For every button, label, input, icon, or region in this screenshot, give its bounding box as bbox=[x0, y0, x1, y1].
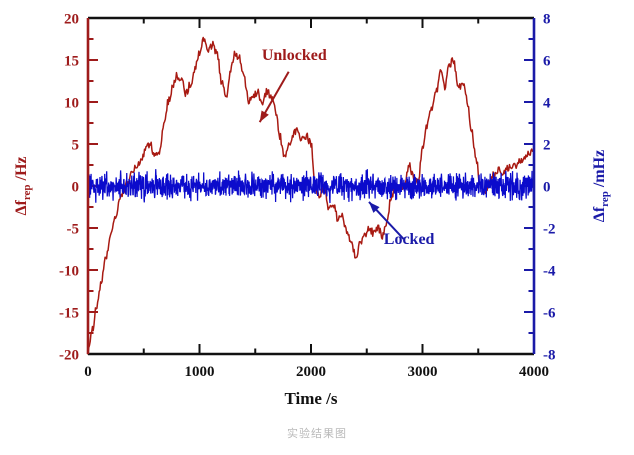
left-tick-label: -5 bbox=[67, 222, 80, 238]
bottom-tick-label: 1000 bbox=[185, 364, 215, 380]
x-axis-label: Time /s bbox=[284, 389, 337, 408]
y-axis-label-right-delta-f: Δf bbox=[591, 206, 608, 222]
y-axis-label-left-unit: /Hz bbox=[13, 156, 30, 184]
chart-canvas: -20-15-10-505101520 -8-6-4-202468 010002… bbox=[0, 0, 634, 455]
left-tick-label: -10 bbox=[59, 264, 79, 280]
left-tick-label: -15 bbox=[59, 306, 79, 322]
figure-container: -20-15-10-505101520 -8-6-4-202468 010002… bbox=[0, 0, 634, 455]
right-tick-label: -2 bbox=[543, 222, 556, 238]
right-tick-label: 2 bbox=[543, 138, 551, 154]
right-tick-label: 4 bbox=[543, 96, 551, 112]
left-tick-label: 15 bbox=[64, 54, 79, 70]
left-tick-label: 10 bbox=[64, 96, 79, 112]
right-tick-label: -4 bbox=[543, 264, 556, 280]
left-tick-label: 0 bbox=[72, 180, 80, 196]
left-tick-label: 20 bbox=[64, 12, 79, 28]
right-tick-label: 0 bbox=[543, 180, 551, 196]
left-tick-label: -20 bbox=[59, 348, 79, 364]
bottom-tick-label: 2000 bbox=[296, 364, 326, 380]
annotation-label-locked: Locked bbox=[384, 231, 435, 248]
y-axis-label-left-delta-f: Δf bbox=[13, 199, 30, 215]
right-tick-label: -8 bbox=[543, 348, 556, 364]
right-tick-label: 8 bbox=[543, 12, 551, 28]
y-axis-label-right-subscript: rep bbox=[599, 191, 611, 207]
bottom-tick-label: 3000 bbox=[408, 364, 438, 380]
figure-caption: 实验结果图 bbox=[0, 425, 634, 441]
bottom-tick-label: 4000 bbox=[519, 364, 549, 380]
y-axis-label-right-unit: /mHz bbox=[591, 150, 608, 191]
right-tick-label: 6 bbox=[543, 54, 551, 70]
y-axis-label-left-subscript: rep bbox=[21, 184, 33, 200]
right-tick-label: -6 bbox=[543, 306, 556, 322]
annotation-label-unlocked: Unlocked bbox=[262, 47, 327, 64]
left-tick-label: 5 bbox=[72, 138, 80, 154]
bottom-tick-label: 0 bbox=[84, 364, 92, 380]
